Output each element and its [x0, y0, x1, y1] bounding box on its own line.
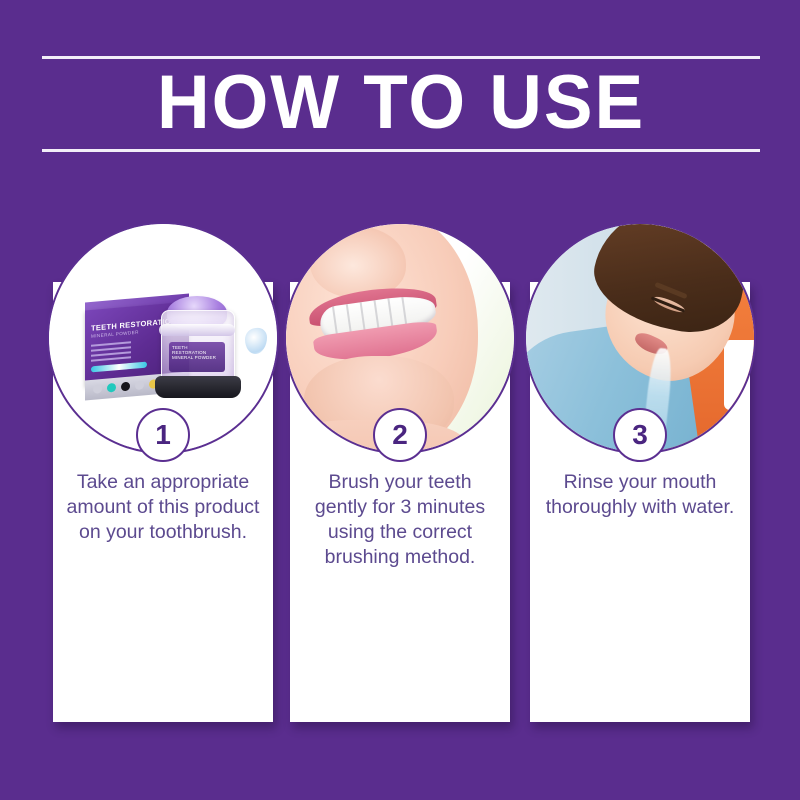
step-number-badge-1: 1: [136, 408, 190, 462]
step-number-badge-3: 3: [613, 408, 667, 462]
jar-base: [155, 376, 241, 398]
step-caption-2: Brush your teeth gently for 3 minutes us…: [300, 470, 500, 570]
step-caption-3: Rinse your mouth thoroughly with water.: [540, 470, 740, 520]
background-highlight: [724, 340, 754, 410]
how-to-use-poster: HOW TO USE TEETH RESTORATION MINERAL POW…: [0, 0, 800, 800]
steps-row: TEETH RESTORATION MINERAL POWDER TEETH R…: [0, 222, 800, 722]
step-number-badge-2: 2: [373, 408, 427, 462]
nose-shape: [310, 226, 406, 298]
page-title: HOW TO USE: [56, 59, 745, 149]
tooth-icon: [245, 327, 267, 355]
title-rule-bottom: [42, 149, 760, 152]
step-caption-1: Take an appropriate amount of this produ…: [63, 470, 263, 545]
product-box-bullets: [91, 341, 131, 364]
header: HOW TO USE: [42, 56, 760, 152]
jar-label: TEETH RESTORATION MINERAL POWDER: [169, 342, 225, 372]
jar-rim: [159, 324, 235, 336]
